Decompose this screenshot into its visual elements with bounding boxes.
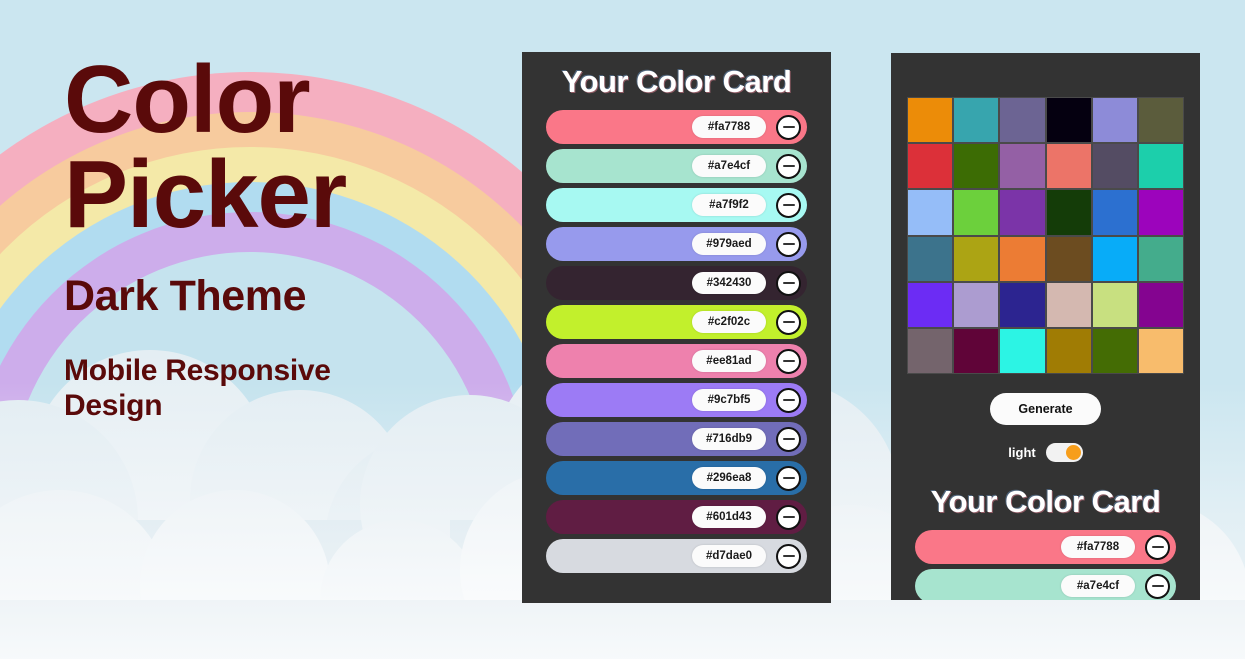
grid-color-cell[interactable]	[954, 329, 998, 373]
grid-color-cell[interactable]	[908, 237, 952, 281]
minus-icon[interactable]	[776, 544, 801, 569]
grid-color-cell[interactable]	[1139, 144, 1183, 188]
grid-color-cell[interactable]	[1000, 190, 1044, 234]
grid-color-cell[interactable]	[908, 144, 952, 188]
minus-bar	[783, 516, 795, 518]
grid-color-cell[interactable]	[1139, 98, 1183, 142]
minus-icon[interactable]	[776, 388, 801, 413]
grid-color-cell[interactable]	[908, 283, 952, 327]
swatch-hex-value[interactable]: #fa7788	[1061, 536, 1135, 558]
screenshot-canvas: Color Picker Dark Theme Mobile Responsiv…	[0, 0, 1245, 659]
minus-bar	[783, 477, 795, 479]
swatch-row[interactable]: #601d43	[546, 500, 807, 534]
swatch-hex-value[interactable]: #296ea8	[692, 467, 766, 489]
grid-color-cell[interactable]	[1047, 329, 1091, 373]
grid-color-cell[interactable]	[1047, 237, 1091, 281]
swatch-hex-value[interactable]: #342430	[692, 272, 766, 294]
minus-icon[interactable]	[776, 232, 801, 257]
minus-icon[interactable]	[776, 193, 801, 218]
grid-color-cell[interactable]	[1000, 283, 1044, 327]
minus-icon[interactable]	[776, 271, 801, 296]
grid-color-cell[interactable]	[954, 144, 998, 188]
grid-color-cell[interactable]	[954, 98, 998, 142]
grid-color-cell[interactable]	[1093, 283, 1137, 327]
swatch-hex-value[interactable]: #fa7788	[692, 116, 766, 138]
swatch-hex-value[interactable]: #c2f02c	[692, 311, 766, 333]
grid-color-cell[interactable]	[1047, 283, 1091, 327]
grid-color-cell[interactable]	[954, 283, 998, 327]
swatch-hex-value[interactable]: #9c7bf5	[692, 389, 766, 411]
minus-bar	[1152, 546, 1164, 548]
color-grid[interactable]	[907, 97, 1184, 374]
minus-bar	[783, 321, 795, 323]
swatch-hex-value[interactable]: #a7e4cf	[1061, 575, 1135, 597]
swatch-hex-value[interactable]: #716db9	[692, 428, 766, 450]
minus-bar	[783, 243, 795, 245]
desktop-preview-panel: Your Color Card #fa7788#a7e4cf#a7f9f2#97…	[522, 52, 831, 603]
minus-icon[interactable]	[776, 349, 801, 374]
grid-color-cell[interactable]	[1093, 144, 1137, 188]
grid-color-cell[interactable]	[1139, 329, 1183, 373]
minus-bar	[783, 204, 795, 206]
swatch-row[interactable]: #ee81ad	[546, 344, 807, 378]
page-title: Color Picker	[64, 52, 494, 242]
swatch-row[interactable]: #a7e4cf	[546, 149, 807, 183]
generate-button-wrap: Generate	[891, 393, 1200, 425]
swatch-row[interactable]: #c2f02c	[546, 305, 807, 339]
desktop-swatch-list: #fa7788#a7e4cf#a7f9f2#979aed#342430#c2f0…	[522, 110, 831, 573]
hero-subtitle: Dark Theme	[64, 272, 494, 321]
grid-color-cell[interactable]	[908, 190, 952, 234]
hero-tagline: Mobile Responsive Design	[64, 353, 414, 424]
minus-bar	[783, 126, 795, 128]
grid-color-cell[interactable]	[1139, 283, 1183, 327]
hero-tagline-line1: Mobile Responsive	[64, 354, 331, 387]
grid-color-cell[interactable]	[1139, 190, 1183, 234]
hero-tagline-line2: Design	[64, 389, 162, 422]
grid-color-cell[interactable]	[1000, 144, 1044, 188]
generate-button[interactable]: Generate	[990, 393, 1100, 425]
minus-icon[interactable]	[776, 427, 801, 452]
swatch-hex-value[interactable]: #979aed	[692, 233, 766, 255]
theme-toggle-switch[interactable]	[1046, 443, 1083, 462]
swatch-hex-value[interactable]: #a7f9f2	[692, 194, 766, 216]
grid-color-cell[interactable]	[1047, 190, 1091, 234]
swatch-hex-value[interactable]: #ee81ad	[692, 350, 766, 372]
minus-bar	[783, 165, 795, 167]
grid-color-cell[interactable]	[1000, 329, 1044, 373]
minus-bar	[783, 399, 795, 401]
swatch-hex-value[interactable]: #601d43	[692, 506, 766, 528]
mobile-swatch-list: #fa7788#a7e4cf	[891, 530, 1200, 600]
desktop-card-title: Your Color Card	[522, 64, 831, 100]
minus-icon[interactable]	[776, 154, 801, 179]
minus-icon[interactable]	[776, 505, 801, 530]
minus-icon[interactable]	[1145, 535, 1170, 560]
grid-color-cell[interactable]	[1139, 237, 1183, 281]
swatch-row[interactable]: #a7e4cf	[915, 569, 1176, 600]
swatch-hex-value[interactable]: #d7dae0	[692, 545, 766, 567]
theme-toggle-label: light	[1008, 445, 1035, 460]
grid-color-cell[interactable]	[908, 98, 952, 142]
minus-icon[interactable]	[776, 115, 801, 140]
minus-icon[interactable]	[1145, 574, 1170, 599]
swatch-row[interactable]: #716db9	[546, 422, 807, 456]
page-title-line1: Color	[64, 46, 310, 153]
grid-color-cell[interactable]	[1000, 237, 1044, 281]
swatch-row[interactable]: #9c7bf5	[546, 383, 807, 417]
swatch-row[interactable]: #296ea8	[546, 461, 807, 495]
mobile-card-title: Your Color Card	[891, 484, 1200, 520]
grid-color-cell[interactable]	[954, 237, 998, 281]
minus-icon[interactable]	[776, 466, 801, 491]
page-title-line2: Picker	[64, 141, 346, 248]
grid-color-cell[interactable]	[1093, 190, 1137, 234]
grid-color-cell[interactable]	[1047, 98, 1091, 142]
swatch-hex-value[interactable]: #a7e4cf	[692, 155, 766, 177]
minus-bar	[783, 555, 795, 557]
grid-color-cell[interactable]	[1093, 98, 1137, 142]
minus-icon[interactable]	[776, 310, 801, 335]
grid-color-cell[interactable]	[954, 190, 998, 234]
swatch-row[interactable]: #fa7788	[915, 530, 1176, 564]
theme-toggle-knob	[1066, 445, 1081, 460]
minus-bar	[783, 282, 795, 284]
swatch-row[interactable]: #a7f9f2	[546, 188, 807, 222]
grid-color-cell[interactable]	[908, 329, 952, 373]
theme-toggle-row[interactable]: light	[891, 443, 1200, 462]
mobile-preview-panel: Generate light Your Color Card #fa7788#a…	[891, 53, 1200, 600]
minus-bar	[1152, 585, 1164, 587]
minus-bar	[783, 360, 795, 362]
swatch-row[interactable]: #979aed	[546, 227, 807, 261]
swatch-row[interactable]: #fa7788	[546, 110, 807, 144]
grid-color-cell[interactable]	[1000, 98, 1044, 142]
minus-bar	[783, 438, 795, 440]
hero-text-block: Color Picker Dark Theme Mobile Responsiv…	[64, 52, 494, 424]
grid-color-cell[interactable]	[1093, 237, 1137, 281]
swatch-row[interactable]: #342430	[546, 266, 807, 300]
grid-color-cell[interactable]	[1093, 329, 1137, 373]
swatch-row[interactable]: #d7dae0	[546, 539, 807, 573]
grid-color-cell[interactable]	[1047, 144, 1091, 188]
